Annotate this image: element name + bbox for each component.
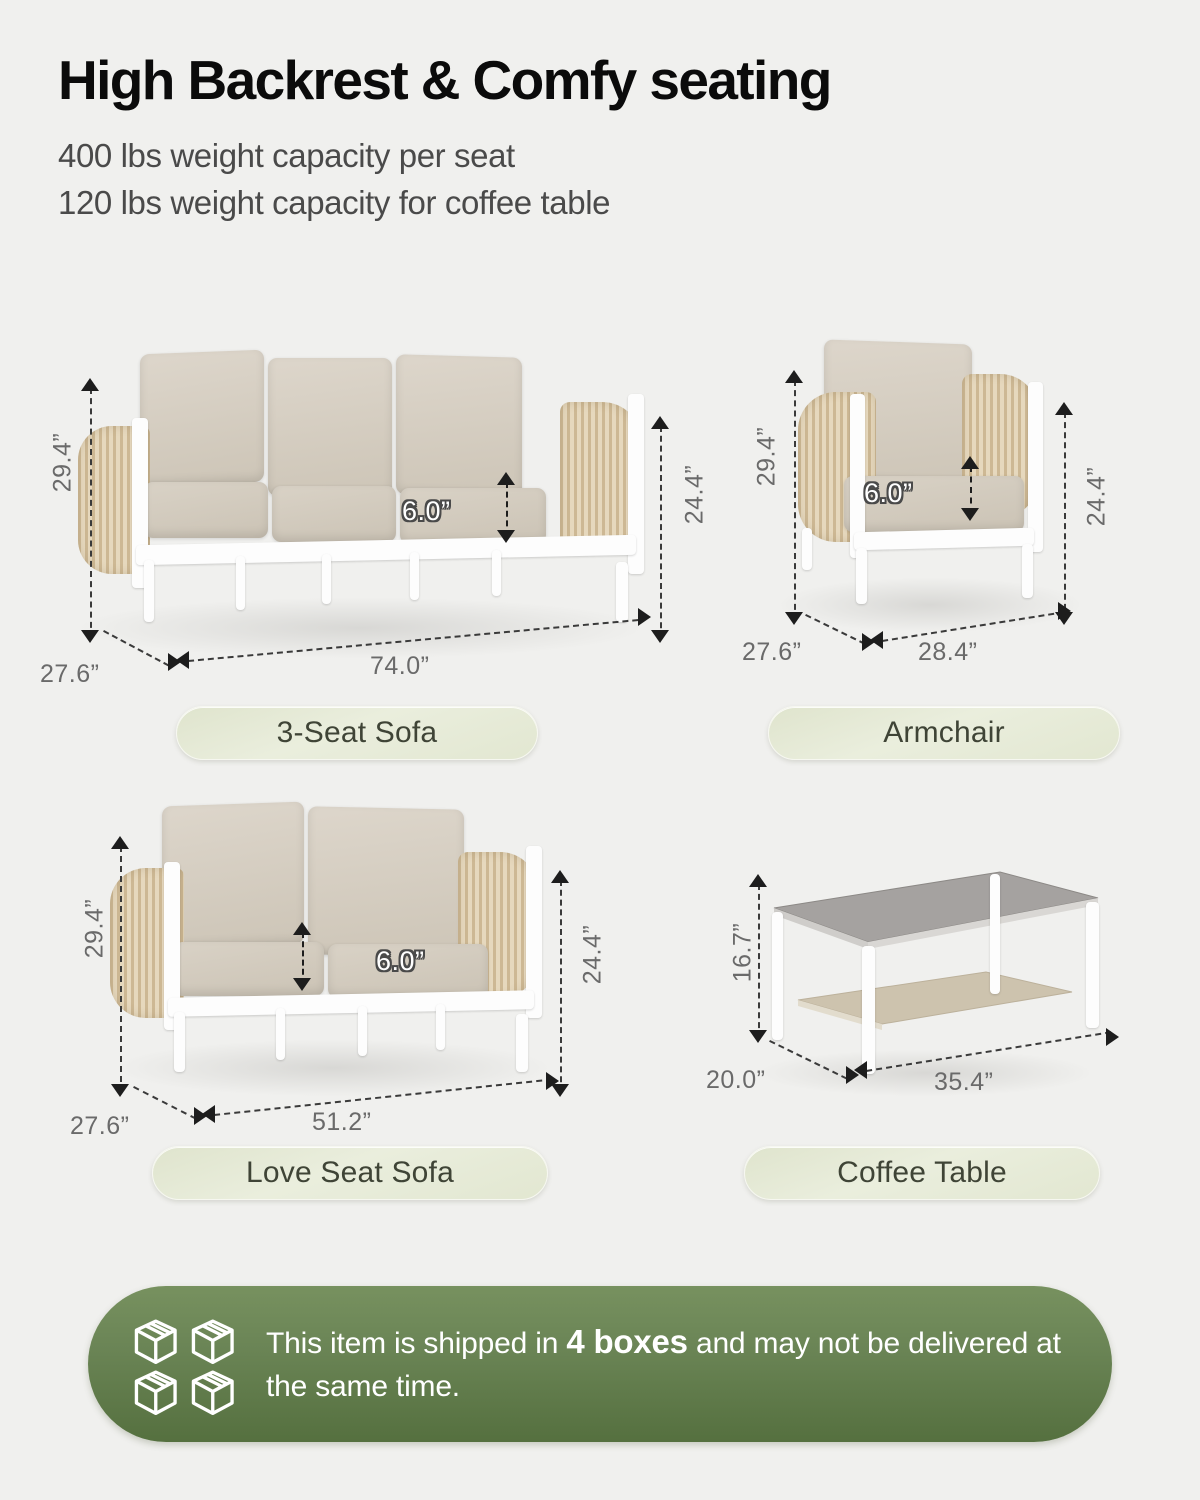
loveseat-depth-label: 27.6”	[70, 1112, 129, 1141]
sofa-seat-height-label: 24.4”	[681, 430, 710, 560]
armchair-cushion-arrow-top	[961, 456, 979, 469]
leg-3	[322, 554, 331, 604]
capacity-line-table: 120 lbs weight capacity for coffee table	[58, 180, 1148, 227]
seat-cushion-1	[144, 482, 268, 538]
armchair-height-line	[794, 380, 796, 620]
box-icon	[130, 1367, 182, 1419]
loveseat-seat-height-line	[560, 880, 562, 1092]
table-leg-back-left	[772, 912, 783, 1040]
sofa-cushion-callout: 6.0”	[402, 496, 451, 527]
sofa-seat-height-line	[660, 426, 662, 638]
sofa-seat-arrow-bottom	[651, 630, 669, 643]
label-pill-coffee-table: Coffee Table	[744, 1146, 1100, 1200]
loveseat-seat-arrow-top	[551, 870, 569, 883]
loveseat-cushion-arrow-bottom	[293, 978, 311, 991]
box-icon	[187, 1367, 239, 1419]
label-pill-loveseat-text: Love Seat Sofa	[246, 1156, 454, 1190]
armchair-cushion-arrow-bottom	[961, 508, 979, 521]
header: High Backrest & Comfy seating 400 lbs we…	[58, 52, 1148, 227]
capacity-line-seat: 400 lbs weight capacity per seat	[58, 133, 1148, 180]
frame-rail-front	[136, 535, 636, 565]
label-pill-coffee-table-text: Coffee Table	[837, 1156, 1007, 1190]
shipping-box-icons	[130, 1316, 238, 1412]
sofa-width-label: 74.0”	[370, 652, 429, 681]
loveseat-width-arrow-right	[546, 1072, 559, 1090]
sofa-depth-label: 27.6”	[40, 660, 99, 689]
loveseat-cushion-arrow-top	[293, 922, 311, 935]
loveseat-width-label: 51.2”	[312, 1108, 371, 1137]
leg-5	[492, 550, 501, 596]
product-armchair: 29.4” 24.4” 6.0” 27.6” 28.4”	[740, 330, 1160, 760]
label-pill-armchair-text: Armchair	[883, 716, 1005, 750]
leg-3	[802, 528, 812, 570]
table-depth-label: 20.0”	[706, 1066, 765, 1095]
back-cushion-2	[268, 358, 392, 496]
box-icon	[187, 1316, 239, 1368]
back-cushion-2	[308, 806, 464, 957]
leg-4	[436, 1004, 445, 1050]
armchair-height-arrow-top	[785, 370, 803, 383]
table-width-arrow-right	[1106, 1028, 1119, 1046]
armchair-seat-height-label: 24.4”	[1083, 432, 1112, 562]
sofa-cushion-arrow-bottom	[497, 530, 515, 543]
armchair-seat-arrow-top	[1055, 402, 1073, 415]
shipping-text-before: This item is shipped in	[266, 1327, 566, 1360]
label-pill-loveseat: Love Seat Sofa	[152, 1146, 548, 1200]
seat-cushion-2	[272, 486, 396, 542]
label-pill-sofa: 3-Seat Sofa	[176, 706, 538, 760]
loveseat-cushion-callout: 6.0”	[376, 946, 425, 977]
sofa-illustration	[40, 330, 680, 760]
sofa-height-label: 29.4”	[49, 398, 78, 528]
table-leg-back-right	[990, 874, 1000, 994]
leg-2	[1022, 544, 1033, 598]
armchair-height-label: 29.4”	[753, 392, 782, 522]
shipping-boxes-count: 4 boxes	[566, 1323, 688, 1360]
label-pill-armchair: Armchair	[768, 706, 1120, 760]
armchair-height-arrow-bottom	[785, 612, 803, 625]
sofa-cushion-line	[506, 482, 508, 536]
sofa-height-line	[90, 388, 92, 638]
product-sofa: 29.4” 24.4” 6.0” 27.6” 74.0”	[40, 330, 680, 760]
frame-rail-front	[854, 528, 1034, 551]
label-pill-sofa-text: 3-Seat Sofa	[277, 716, 438, 750]
capacity-list: 400 lbs weight capacity per seat 120 lbs…	[58, 133, 1148, 227]
table-leg-front-right	[1086, 902, 1099, 1028]
loveseat-height-arrow-bottom	[111, 1084, 129, 1097]
sofa-height-arrow-top	[81, 378, 99, 391]
armchair-seat-height-line	[1064, 412, 1066, 620]
table-height-line	[758, 884, 760, 1038]
armchair-width-label: 28.4”	[918, 638, 977, 667]
table-width-arrow-left	[854, 1061, 867, 1079]
sofa-cushion-arrow-top	[497, 472, 515, 485]
sofa-width-arrow-left	[176, 651, 189, 669]
loveseat-width-arrow-left	[202, 1105, 215, 1123]
shipping-banner: This item is shipped in 4 boxes and may …	[88, 1286, 1112, 1442]
leg-1	[144, 560, 154, 622]
leg-1	[856, 548, 867, 604]
back-cushion-1	[140, 350, 264, 487]
armchair-width-arrow-left	[870, 631, 883, 649]
loveseat-height-arrow-top	[111, 836, 129, 849]
table-width-label: 35.4”	[934, 1068, 993, 1097]
armchair-depth-label: 27.6”	[742, 638, 801, 667]
leg-1	[174, 1012, 185, 1072]
leg-2	[236, 556, 245, 610]
leg-2	[276, 1008, 285, 1060]
leg-6	[616, 562, 628, 622]
armchair-cushion-line	[970, 466, 972, 514]
page-title: High Backrest & Comfy seating	[58, 52, 1148, 109]
sofa-width-arrow-right	[638, 608, 651, 626]
leg-5	[516, 1014, 528, 1072]
leg-3	[358, 1006, 367, 1056]
frame-post-right	[1028, 382, 1043, 552]
loveseat-height-line	[120, 846, 122, 1092]
infographic-page: High Backrest & Comfy seating 400 lbs we…	[0, 0, 1200, 1500]
table-height-arrow-top	[749, 874, 767, 887]
table-height-label: 16.7”	[729, 888, 758, 1018]
armchair-cushion-callout: 6.0”	[864, 478, 913, 509]
table-leg-front-left	[862, 946, 875, 1074]
armchair-width-arrow-right	[1058, 602, 1071, 620]
sofa-seat-arrow-top	[651, 416, 669, 429]
sofa-height-arrow-bottom	[81, 630, 99, 643]
shipping-banner-text: This item is shipped in 4 boxes and may …	[266, 1319, 1112, 1408]
table-height-arrow-bottom	[749, 1030, 767, 1043]
loveseat-seat-height-label: 24.4”	[579, 890, 608, 1020]
box-icon	[130, 1316, 182, 1368]
loveseat-cushion-line	[302, 932, 304, 984]
loveseat-height-label: 29.4”	[81, 864, 110, 994]
leg-4	[410, 552, 419, 600]
